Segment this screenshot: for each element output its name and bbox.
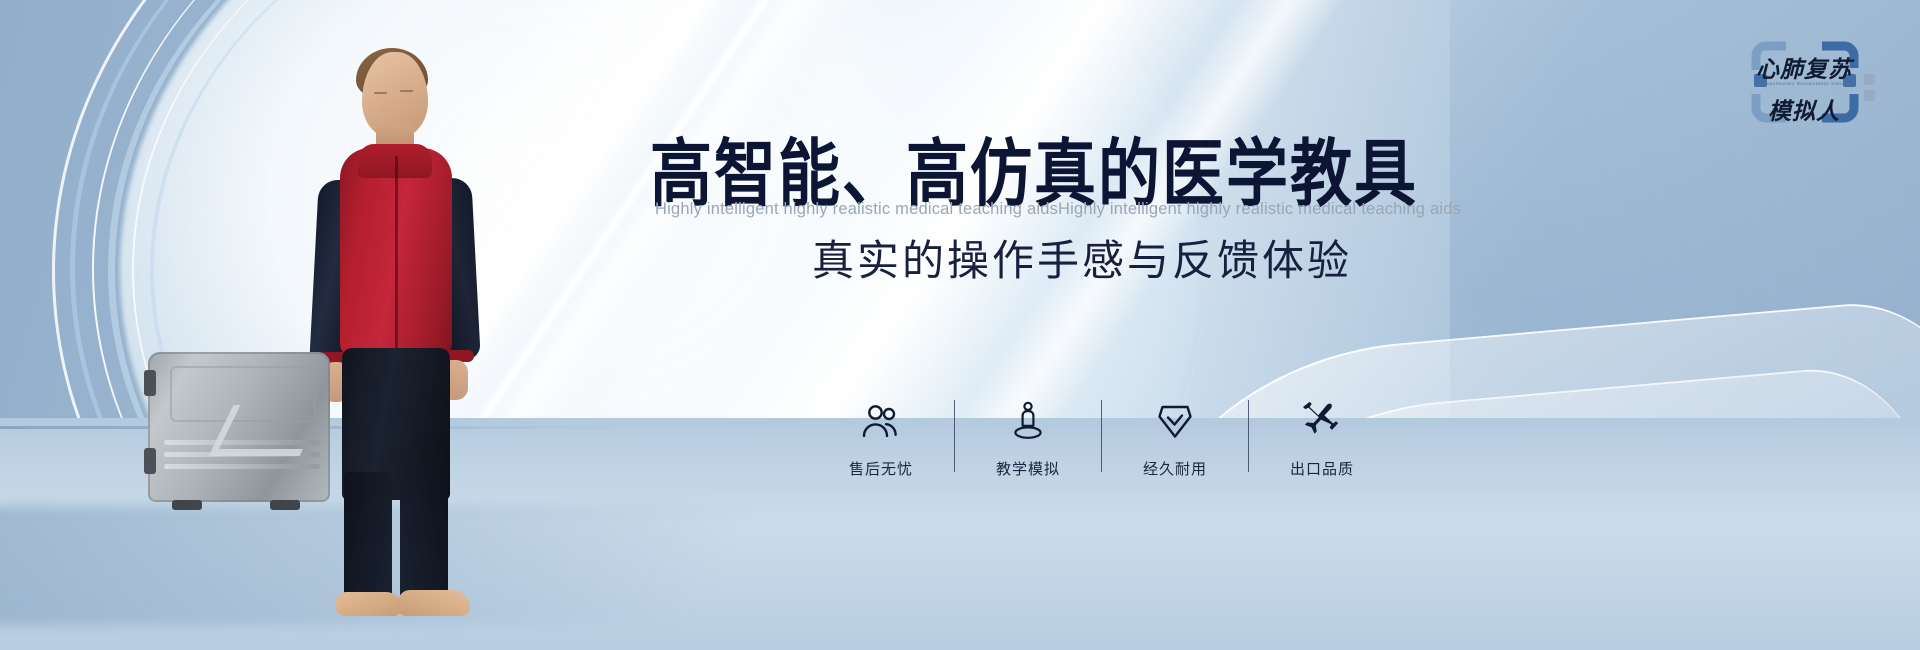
feature-label: 教学模拟 — [996, 458, 1060, 479]
two-people-icon — [860, 400, 902, 442]
logo-line-2: 模拟人 — [1714, 92, 1894, 126]
feature-divider-3 — [1248, 400, 1249, 472]
feature-list: 售后无忧 教学模拟 — [820, 400, 1383, 479]
logo-line-1: 心肺复苏 — [1714, 50, 1894, 84]
feature-label: 售后无忧 — [849, 458, 913, 479]
secondary-headline: 真实的操作手感与反馈体验 — [812, 240, 1352, 282]
feature-item-export-quality[interactable]: 出口品质 — [1261, 400, 1383, 479]
person-on-platform-icon — [1011, 400, 1045, 442]
shield-check-icon — [1155, 400, 1195, 442]
feature-divider-2 — [1101, 400, 1102, 472]
airplane-icon — [1301, 400, 1343, 442]
feature-label: 经久耐用 — [1143, 458, 1207, 479]
feature-label: 出口品质 — [1290, 458, 1354, 479]
promo-banner: 高智能、高仿真的医学教具 Highly intelligent highly r… — [0, 0, 1920, 650]
logo-english-subtitle: Cardiopulmonary Resuscitation Simulator — [1714, 81, 1894, 86]
feature-item-teaching-simulation[interactable]: 教学模拟 — [967, 400, 1089, 479]
feature-item-after-sales[interactable]: 售后无忧 — [820, 400, 942, 479]
feature-item-durability[interactable]: 经久耐用 — [1114, 400, 1236, 479]
brand-logo[interactable]: 心肺复苏 Cardiopulmonary Resuscitation Simul… — [1714, 24, 1894, 140]
copy-block: 高智能、高仿真的医学教具 Highly intelligent highly r… — [0, 0, 1920, 650]
feature-divider-1 — [954, 400, 955, 472]
subtitle-english: Highly intelligent highly realistic medi… — [655, 200, 1461, 219]
